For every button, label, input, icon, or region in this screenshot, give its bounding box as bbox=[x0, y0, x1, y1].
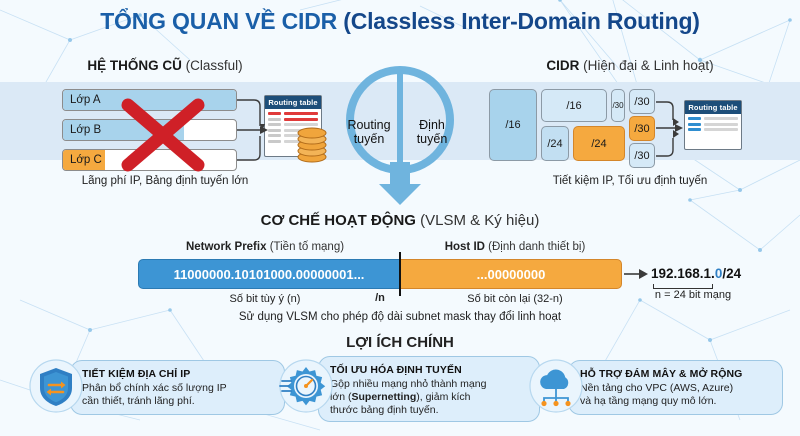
cidr-heading: CIDR (Hiện đại & Linh hoạt) bbox=[460, 58, 800, 73]
benefit-card-3-line2: và hạ tầng mạng quy mô lớn. bbox=[580, 395, 773, 408]
old-system-heading: HỆ THỐNG CŨ (Classful) bbox=[0, 58, 330, 73]
classful-bar-a: Lớp A bbox=[62, 89, 237, 111]
cidr-block-30-thin: /30 bbox=[611, 89, 625, 122]
benefit-card-2-line1: Gộp nhiều mạng nhỏ thành mạng bbox=[330, 378, 530, 391]
table-row bbox=[688, 117, 738, 120]
benefit-card-1-title: TIẾT KIỆM ĐỊA CHỈ IP bbox=[82, 368, 275, 380]
result-ip: 192.168.1.0/24 bbox=[651, 266, 741, 281]
page-title-main: TỔNG QUAN VỀ CIDR bbox=[100, 8, 343, 34]
prefix-host-divider bbox=[399, 252, 401, 296]
cidr-block-24-orange: /24 bbox=[573, 126, 625, 161]
host-id-bar: ...00000000 bbox=[400, 259, 622, 289]
mechanism-heading-bold: CƠ CHẾ HOẠT ĐỘNG bbox=[261, 212, 420, 229]
shield-exchange-icon bbox=[28, 358, 84, 414]
benefit-card-1-text: Phân bổ chính xác số lượng IP cần thiết,… bbox=[82, 382, 275, 408]
page-title-paren: (Classless Inter-Domain Routing) bbox=[343, 8, 700, 34]
result-ip-prefix: 192.168.1. bbox=[651, 266, 715, 281]
classful-bar-b-label: Lớp B bbox=[70, 120, 101, 140]
old-system-caption: Lãng phí IP, Bảng định tuyến lớn bbox=[0, 175, 330, 187]
cidr-routing-table: Routing table bbox=[684, 100, 742, 150]
cloud-network-icon bbox=[528, 358, 584, 414]
host-id-label-bold: Host ID bbox=[445, 241, 488, 253]
coin-stack-icon bbox=[294, 124, 330, 164]
cidr-block-30-bottom: /30 bbox=[629, 143, 655, 168]
cidr-routing-table-header: Routing table bbox=[685, 101, 741, 114]
benefit-card-2-line2-b: ), giảm kích bbox=[416, 391, 470, 403]
benefit-card-2-supernetting: Supernetting bbox=[351, 391, 416, 403]
cidr-caption: Tiết kiệm IP, Tối ưu định tuyến bbox=[460, 175, 800, 187]
result-brace bbox=[653, 284, 713, 289]
old-system-connectors bbox=[232, 92, 292, 172]
network-prefix-label-light: (Tiền tố mạng) bbox=[270, 241, 344, 253]
result-note: n = 24 bit mạng bbox=[638, 289, 748, 301]
cidr-block-16-large: /16 bbox=[489, 89, 537, 161]
classful-bar-b: Lớp B bbox=[62, 119, 237, 141]
gear-speedometer-icon bbox=[278, 358, 334, 414]
benefit-card-3-line1: Nền tảng cho VPC (AWS, Azure) bbox=[580, 382, 773, 395]
benefits-heading: LỢI ÍCH CHÍNH bbox=[0, 334, 800, 351]
prefix-note: Số bit tùy ý (n) bbox=[150, 293, 380, 305]
table-row bbox=[688, 123, 738, 126]
result-ip-suffix: /24 bbox=[722, 266, 741, 281]
host-note: Số bit còn lại (32-n) bbox=[410, 293, 620, 305]
circle-left-line1: Routing bbox=[340, 118, 398, 132]
table-row bbox=[688, 128, 738, 131]
benefit-card-1-line1: Phân bổ chính xác số lượng IP bbox=[82, 382, 275, 395]
benefit-card-1: TIẾT KIỆM ĐỊA CHỈ IP Phân bổ chính xác s… bbox=[70, 360, 285, 415]
benefit-card-2-text: Gộp nhiều mạng nhỏ thành mạng lớn (Super… bbox=[330, 378, 530, 417]
cidr-block-30-middle: /30 bbox=[629, 116, 655, 141]
cidr-block-24-small: /24 bbox=[541, 126, 569, 161]
page-title: TỔNG QUAN VỀ CIDR (Classless Inter-Domai… bbox=[0, 8, 800, 35]
cidr-block-30-top: /30 bbox=[629, 89, 655, 114]
cidr-heading-bold: CIDR bbox=[546, 58, 583, 73]
benefit-card-3-title: HỖ TRỢ ĐÁM MÂY & MỞ RỘNG bbox=[580, 368, 773, 380]
vlsm-note: Sử dụng VLSM cho phép độ dài subnet mask… bbox=[0, 311, 800, 323]
benefit-card-3-text: Nền tảng cho VPC (AWS, Azure) và hạ tầng… bbox=[580, 382, 773, 408]
circle-right-line2: tuyến bbox=[404, 132, 460, 146]
benefit-card-1-line2: cần thiết, tránh lãng phí. bbox=[82, 395, 275, 408]
cidr-block-16: /16 bbox=[541, 89, 607, 122]
circle-right-line1: Định bbox=[404, 118, 460, 132]
old-system-heading-light: (Classful) bbox=[186, 58, 243, 73]
cidr-routing-table-body bbox=[685, 114, 741, 137]
network-prefix-label: Network Prefix (Tiền tố mạng) bbox=[140, 241, 390, 253]
circle-right-text: Định tuyến bbox=[404, 118, 460, 147]
cidr-connectors bbox=[653, 96, 689, 168]
benefit-card-2-line3: thước bảng định tuyến. bbox=[330, 404, 530, 417]
mechanism-heading: CƠ CHẾ HOẠT ĐỘNG (VLSM & Ký hiệu) bbox=[0, 212, 800, 229]
benefit-card-2: TỐI ƯU HÓA ĐỊNH TUYẾN Gộp nhiều mạng nhỏ… bbox=[318, 356, 540, 422]
circle-left-text: Routing tuyến bbox=[340, 118, 398, 147]
cidr-heading-light: (Hiện đại & Linh hoạt) bbox=[583, 58, 714, 73]
circle-left-line2: tuyến bbox=[340, 132, 398, 146]
host-id-label-light: (Định danh thiết bị) bbox=[488, 241, 585, 253]
result-arrow-icon bbox=[624, 266, 650, 282]
host-id-label: Host ID (Định danh thiết bị) bbox=[400, 241, 630, 253]
classful-bar-c: Lớp C bbox=[62, 149, 237, 171]
classful-bar-c-label: Lớp C bbox=[70, 150, 102, 170]
benefit-card-3: HỖ TRỢ ĐÁM MÂY & MỞ RỘNG Nền tảng cho VP… bbox=[568, 360, 783, 415]
old-system-heading-bold: HỆ THỐNG CŨ bbox=[87, 58, 185, 73]
network-prefix-bar: 11000000.10101000.00000001... bbox=[138, 259, 400, 289]
benefit-card-2-line2: lớn (Supernetting), giảm kích bbox=[330, 391, 530, 404]
mechanism-heading-light: (VLSM & Ký hiệu) bbox=[420, 212, 539, 229]
benefit-card-2-title: TỐI ƯU HÓA ĐỊNH TUYẾN bbox=[330, 364, 530, 376]
classful-bar-a-label: Lớp A bbox=[70, 90, 101, 110]
network-prefix-label-bold: Network Prefix bbox=[186, 241, 270, 253]
